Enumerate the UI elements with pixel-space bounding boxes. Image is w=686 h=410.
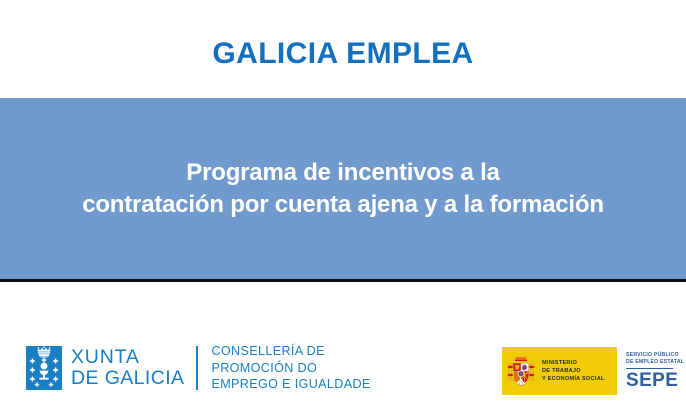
ministerio-line-1: MINISTERIO xyxy=(542,359,605,367)
sepe-divider-rule xyxy=(626,368,673,369)
logo-divider xyxy=(196,346,198,390)
program-banner-line-1: Programa de incentivos a la xyxy=(82,157,604,189)
ministerio-line-3: Y ECONOMÍA SOCIAL xyxy=(542,375,605,383)
conselleria-line-3: EMPREGO E IGUALDADE xyxy=(211,376,370,393)
footer-logos: XUNTA DE GALICIA CONSELLERÍA DE PROMOCIÓ… xyxy=(0,285,686,410)
program-banner-line-2: contratación por cuenta ajena y a la for… xyxy=(82,189,604,221)
xunta-wordmark-line-2: DE GALICIA xyxy=(71,368,184,389)
spain-coat-of-arms-icon xyxy=(506,353,536,389)
sepe-block: SERVICIO PÚBLICO DE EMPLEO ESTATAL SEPE xyxy=(617,347,686,395)
sepe-subtitle-line-2: DE EMPLEO ESTATAL xyxy=(626,359,684,366)
conselleria-line-1: CONSELLERÍA DE xyxy=(211,343,370,360)
gobierno-de-espana-sepe-logo: MINISTERIO DE TRABAJO Y ECONOMÍA SOCIAL … xyxy=(502,347,686,395)
xunta-de-galicia-logo: XUNTA DE GALICIA CONSELLERÍA DE PROMOCIÓ… xyxy=(26,345,371,391)
ministerio-block: MINISTERIO DE TRABAJO Y ECONOMÍA SOCIAL xyxy=(502,347,617,395)
sepe-acronym: SEPE xyxy=(626,371,678,390)
page-title: GALICIA EMPLEA xyxy=(212,39,473,69)
sepe-subtitle: SERVICIO PÚBLICO DE EMPLEO ESTATAL xyxy=(626,352,684,366)
program-banner: Programa de incentivos a la contratación… xyxy=(0,98,686,282)
sepe-subtitle-line-1: SERVICIO PÚBLICO xyxy=(626,352,684,359)
ministerio-wordmark: MINISTERIO DE TRABAJO Y ECONOMÍA SOCIAL xyxy=(542,359,605,383)
ministerio-line-2: DE TRABAJO xyxy=(542,367,605,375)
xunta-wordmark-line-1: XUNTA xyxy=(71,347,184,368)
page-header: GALICIA EMPLEA xyxy=(0,0,686,98)
conselleria-line-2: PROMOCIÓN DO xyxy=(211,360,370,377)
galicia-coat-of-arms-icon xyxy=(26,346,62,390)
program-banner-text: Programa de incentivos a la contratación… xyxy=(68,157,618,221)
conselleria-wordmark: CONSELLERÍA DE PROMOCIÓN DO EMPREGO E IG… xyxy=(211,343,370,393)
xunta-wordmark: XUNTA DE GALICIA xyxy=(71,347,184,389)
